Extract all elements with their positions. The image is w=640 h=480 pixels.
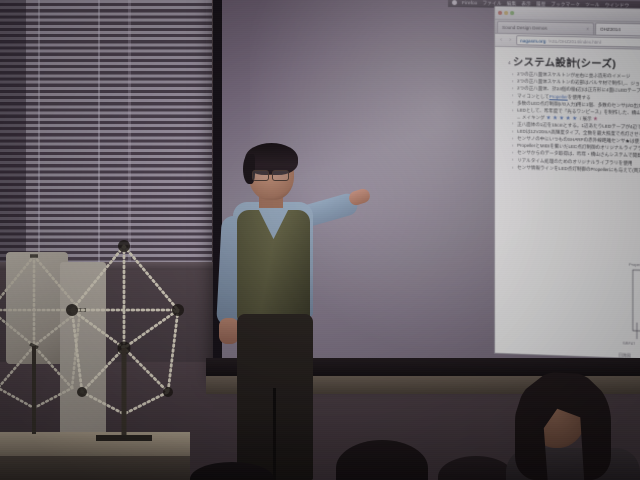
forward-icon[interactable]: › <box>507 37 513 43</box>
window-controls[interactable] <box>498 10 514 14</box>
demo-table-front <box>0 456 190 480</box>
bullet-list-secondary: 正八面体の1辺を15cmとする。1辺あたりLEDテープが4辺で3×6LED、これ… <box>502 121 640 181</box>
list-item: センサ情報ラインをLED点灯制御のPropellerにも与えて(両方をモニタ)、… <box>512 165 640 181</box>
blind-cord <box>38 0 40 268</box>
apple-icon[interactable] <box>452 0 457 5</box>
svg-text:Propeller: Propeller <box>629 262 640 268</box>
back-icon[interactable]: ‹ <box>498 37 504 43</box>
tab-ohz2014[interactable]: OHZ2014 × <box>595 23 640 37</box>
svg-text:SRF07: SRF07 <box>623 340 636 346</box>
menubar-item-0[interactable]: Firefox <box>462 0 477 5</box>
blind-panel-edge <box>128 0 131 268</box>
led-octahedron-sculpture-right <box>56 240 196 440</box>
minimize-icon[interactable] <box>504 10 508 14</box>
presenter-left-hand <box>219 318 239 344</box>
zoom-icon[interactable] <box>510 11 514 15</box>
browser-window: OHZ2014 Sound Design Demos × OHZ2014 × +… <box>494 6 640 368</box>
tab-sound-design-demos[interactable]: Sound Design Demos × <box>497 21 594 35</box>
url-host: nagasm.org <box>520 38 546 43</box>
heading-number: 4 <box>508 60 511 65</box>
photo-scene: Firefox ファイル 編集 表示 履歴 ブックマーク ツール ウインドウ O… <box>0 0 640 480</box>
presenter-leg-seam <box>273 388 276 480</box>
tab-label: Sound Design Demos <box>502 25 547 31</box>
url-path: /ASL/OHZ2014/index.html <box>548 38 601 44</box>
tab-close-icon[interactable]: × <box>586 26 589 31</box>
projected-desktop: Firefox ファイル 編集 表示 履歴 ブックマーク ツール ウインドウ O… <box>448 0 640 366</box>
window-blinds <box>0 0 212 268</box>
heading-text: システム設計(シーズ) <box>513 57 616 70</box>
propeller-link[interactable]: Propeller <box>549 94 567 99</box>
circuit-schematic-image: LED DRV Propeller 12V PSU SRF07 回路図 <box>614 251 640 368</box>
window-blinds-shadow <box>0 0 26 268</box>
web-page-content: 4システム設計(シーズ) 2つの正八面体スケルトンが左右に並ぶ造形のイメージ 2… <box>495 47 640 368</box>
star-rating-exhibit: ★ <box>593 116 600 122</box>
close-icon[interactable] <box>498 10 502 14</box>
presenter-glasses <box>252 170 292 179</box>
sub-separator: / 展示 <box>580 116 593 121</box>
svg-text:回路図: 回路図 <box>619 351 631 358</box>
presenter <box>197 148 347 480</box>
tab-label: OHZ2014 <box>600 27 620 32</box>
sub-arrow: → メイキング <box>516 115 546 121</box>
blind-cord <box>98 0 100 268</box>
